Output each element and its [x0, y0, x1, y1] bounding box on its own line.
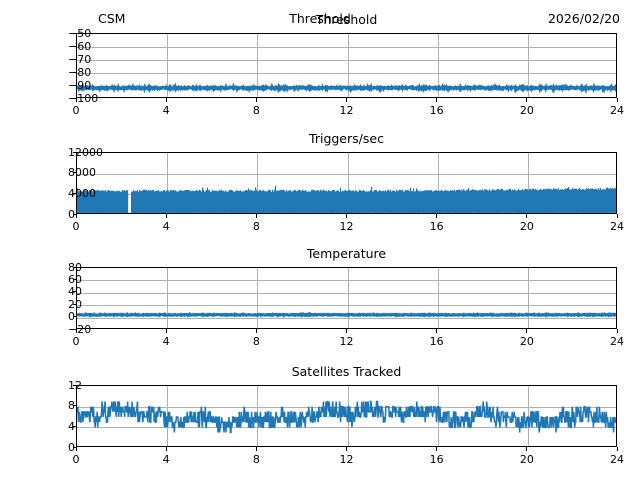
x-axis-tick: [256, 98, 257, 102]
x-axis-tick-label: 0: [73, 221, 80, 232]
x-axis-tick-label: 12: [340, 221, 354, 232]
series-satellites-tracked: [77, 386, 617, 447]
x-axis-tick: [436, 214, 437, 218]
x-axis-tick: [76, 214, 77, 218]
plot-area: [76, 385, 617, 447]
x-axis-tick-label: 0: [73, 336, 80, 347]
x-axis-tick-label: 20: [520, 336, 534, 347]
x-axis-tick: [166, 214, 167, 218]
x-axis-tick-label: 8: [253, 454, 260, 465]
x-axis-tick-label: 4: [163, 105, 170, 116]
x-axis-tick-label: 0: [73, 105, 80, 116]
panel-title: Triggers/sec: [76, 133, 617, 146]
x-axis-tick-label: 4: [163, 454, 170, 465]
x-axis-tick-label: 8: [253, 221, 260, 232]
x-axis-tick-label: 24: [610, 454, 624, 465]
x-axis-tick: [166, 329, 167, 333]
panel-title: Satellites Tracked: [76, 366, 617, 379]
x-axis-tick: [76, 447, 77, 451]
x-axis-tick-label: 16: [430, 221, 444, 232]
x-axis-tick: [436, 447, 437, 451]
x-axis-tick-label: 8: [253, 336, 260, 347]
chart-panel-triggers-sec: Triggers/sec04000800012000Count048121620…: [76, 152, 617, 214]
x-axis-tick: [436, 98, 437, 102]
x-axis-tick: [436, 329, 437, 333]
x-axis-tick-label: 24: [610, 336, 624, 347]
x-axis-tick: [346, 447, 347, 451]
figure-canvas: CSM Threshold 2026/02/20 Threshold−100−9…: [0, 0, 640, 480]
x-axis-tick-label: 24: [610, 105, 624, 116]
chart-panel-temperature: Temperature−20020406080°C04812162024: [76, 267, 617, 329]
x-axis-tick-label: 12: [340, 454, 354, 465]
x-axis-tick-label: 12: [340, 105, 354, 116]
x-axis-tick-label: 16: [430, 336, 444, 347]
x-axis-tick: [526, 329, 527, 333]
x-axis-tick: [526, 214, 527, 218]
plot-area: [76, 152, 617, 214]
x-axis-tick: [526, 447, 527, 451]
x-axis-tick: [617, 447, 618, 451]
plot-area: [76, 267, 617, 329]
x-axis-tick-label: 16: [430, 454, 444, 465]
x-axis-tick-label: 20: [520, 454, 534, 465]
x-axis-tick: [256, 329, 257, 333]
x-axis-tick-label: 20: [520, 221, 534, 232]
x-axis-tick-label: 20: [520, 105, 534, 116]
series-temperature: [77, 268, 617, 329]
x-axis-tick: [76, 329, 77, 333]
x-axis-tick: [346, 214, 347, 218]
x-axis-tick-label: 0: [73, 454, 80, 465]
x-axis-tick-label: 16: [430, 105, 444, 116]
x-axis-tick: [346, 329, 347, 333]
series-triggers-per-sec: [77, 153, 617, 214]
chart-panel-threshold: Threshold−100−90−80−70−60−50dBm048121620…: [76, 33, 617, 98]
x-axis-tick: [346, 98, 347, 102]
series-threshold: [77, 34, 617, 98]
panel-title: Threshold: [76, 14, 617, 27]
x-axis-tick: [166, 98, 167, 102]
x-axis-tick-label: 12: [340, 336, 354, 347]
x-axis-tick-label: 8: [253, 105, 260, 116]
x-axis-tick: [256, 447, 257, 451]
x-axis-tick-label: 4: [163, 336, 170, 347]
x-axis-tick: [617, 329, 618, 333]
x-axis-tick-label: 24: [610, 221, 624, 232]
x-axis-tick: [166, 447, 167, 451]
x-axis-tick: [526, 98, 527, 102]
x-axis-tick: [617, 214, 618, 218]
x-axis-tick: [256, 214, 257, 218]
x-axis-tick: [76, 98, 77, 102]
x-axis-tick-label: 4: [163, 221, 170, 232]
panel-title: Temperature: [76, 248, 617, 261]
chart-panel-satellites-tracked: Satellites Tracked04812Number04812162024: [76, 385, 617, 447]
plot-area: [76, 33, 617, 98]
x-axis-tick: [617, 98, 618, 102]
